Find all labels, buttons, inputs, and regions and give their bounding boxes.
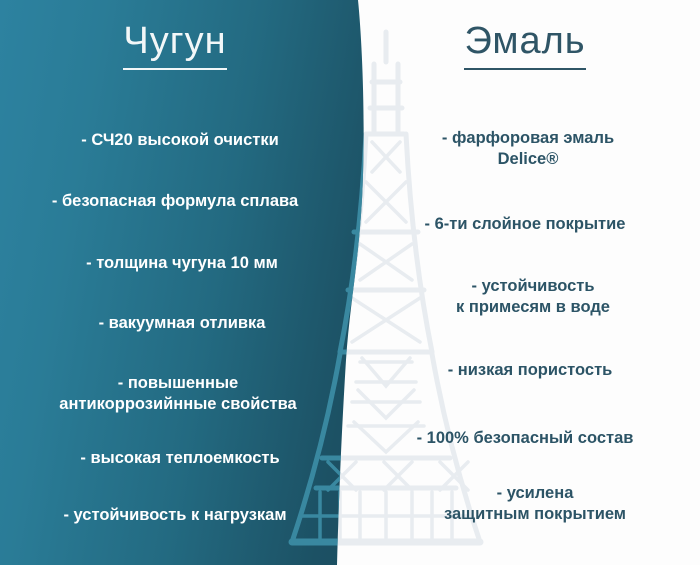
- left-column-title: Чугун: [0, 20, 350, 70]
- list-item: - низкая пористость: [350, 360, 700, 381]
- right-column-title: Эмаль: [350, 20, 700, 70]
- left-column-title-text: Чугун: [123, 20, 226, 70]
- right-column-list: - фарфоровая эмаль Delice® - 6-ти слойно…: [350, 108, 700, 553]
- comparison-poster: Чугун - СЧ20 высокой очистки - безопасна…: [0, 0, 700, 565]
- list-item: - толщина чугуна 10 мм: [0, 253, 350, 274]
- right-column-title-text: Эмаль: [464, 20, 585, 70]
- list-item: - повышенные антикоррозийнные свойства: [0, 373, 350, 415]
- list-item: - фарфоровая эмаль Delice®: [350, 128, 700, 170]
- list-item: - вакуумная отливка: [0, 313, 350, 334]
- list-item: - 100% безопасный состав: [350, 428, 700, 449]
- list-item: - устойчивость к нагрузкам: [0, 505, 350, 526]
- right-column: Эмаль - фарфоровая эмаль Delice® - 6-ти …: [350, 0, 700, 565]
- list-item: - СЧ20 высокой очистки: [0, 130, 350, 151]
- left-column: Чугун - СЧ20 высокой очистки - безопасна…: [0, 0, 350, 565]
- list-item: - 6-ти слойное покрытие: [350, 214, 700, 235]
- list-item: - высокая теплоемкость: [0, 448, 350, 469]
- list-item: - устойчивость к примесям в воде: [350, 276, 700, 318]
- left-column-list: - СЧ20 высокой очистки - безопасная форм…: [0, 108, 350, 553]
- list-item: - безопасная формула сплава: [0, 191, 350, 212]
- list-item: - усилена защитным покрытием: [350, 483, 700, 525]
